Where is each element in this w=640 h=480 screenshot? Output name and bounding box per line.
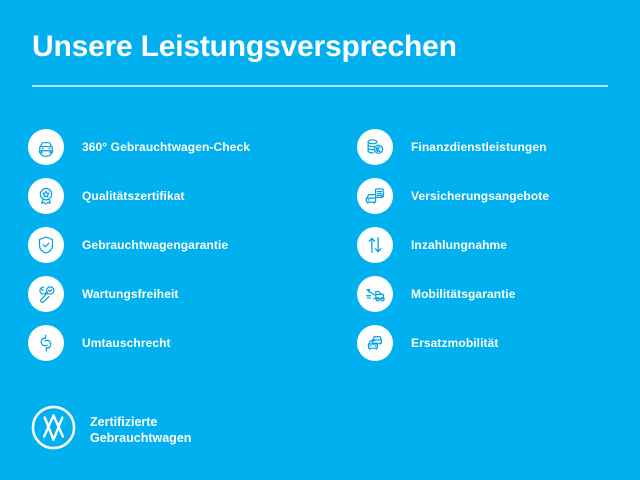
header: Unsere Leistungsversprechen bbox=[32, 30, 608, 64]
vw-roundel-logo bbox=[30, 404, 77, 456]
up-down-arrows-icon bbox=[357, 227, 393, 263]
benefit-columns: 360° Gebrauchtwagen-Check Qualitätszerti… bbox=[0, 122, 640, 367]
page-title: Unsere Leistungsversprechen bbox=[32, 30, 608, 64]
brand-lockup-text: Zertifizierte Gebrauchtwagen bbox=[90, 414, 191, 446]
list-item-label: Finanzdienstleistungen bbox=[411, 140, 547, 154]
car-checklist-icon bbox=[357, 178, 393, 214]
list-item[interactable]: Mobilitätsgarantie bbox=[357, 269, 640, 318]
brand-lockup: Zertifizierte Gebrauchtwagen bbox=[30, 404, 191, 456]
list-item-label: Inzahlungnahme bbox=[411, 238, 507, 252]
list-item[interactable]: Finanzdienstleistungen bbox=[357, 122, 640, 171]
list-item[interactable]: Inzahlungnahme bbox=[357, 220, 640, 269]
two-cars-icon bbox=[357, 325, 393, 361]
list-item-label: Ersatzmobilität bbox=[411, 336, 499, 350]
brand-line-1: Zertifizierte bbox=[90, 414, 191, 430]
header-divider bbox=[32, 85, 608, 87]
benefit-column-right: Finanzdienstleistungen Versicherungsange… bbox=[0, 122, 640, 367]
promise-panel: Unsere Leistungsversprechen 3 bbox=[0, 0, 640, 480]
tow-truck-icon bbox=[357, 276, 393, 312]
list-item[interactable]: Versicherungsangebote bbox=[357, 171, 640, 220]
coins-euro-icon bbox=[357, 129, 393, 165]
list-item-label: Versicherungsangebote bbox=[411, 189, 549, 203]
list-item[interactable]: Ersatzmobilität bbox=[357, 318, 640, 367]
list-item-label: Mobilitätsgarantie bbox=[411, 287, 515, 301]
brand-line-2: Gebrauchtwagen bbox=[90, 430, 191, 446]
